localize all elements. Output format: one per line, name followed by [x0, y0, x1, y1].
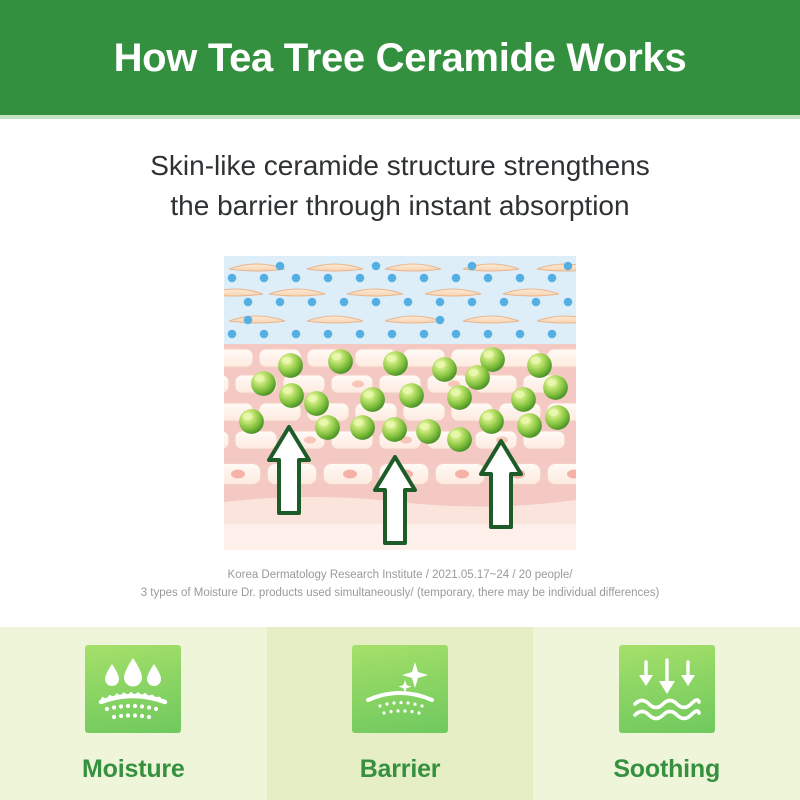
caption-line-2: 3 types of Moisture Dr. products used si…	[0, 584, 800, 602]
water-droplets-on-skin-icon	[85, 645, 181, 733]
subtitle: Skin-like ceramide structure strengthens…	[0, 146, 800, 226]
sparkle-over-skin-barrier-icon	[352, 645, 448, 733]
skin-cross-section-diagram	[224, 256, 576, 550]
benefit-label-barrier: Barrier	[360, 755, 441, 784]
benefit-card-barrier: Barrier	[267, 627, 534, 800]
benefit-label-moisture: Moisture	[82, 755, 185, 784]
header-band: How Tea Tree Ceramide Works	[0, 0, 800, 115]
benefit-card-soothing: Soothing	[533, 627, 800, 800]
benefit-label-soothing: Soothing	[613, 755, 720, 784]
benefit-card-moisture: Moisture	[0, 627, 267, 800]
header-divider	[0, 115, 800, 119]
down-arrows-over-waves-icon	[619, 645, 715, 733]
page-title: How Tea Tree Ceramide Works	[114, 38, 687, 78]
subtitle-line-2: the barrier through instant absorption	[0, 186, 800, 226]
caption-line-1: Korea Dermatology Research Institute / 2…	[0, 566, 800, 584]
infographic-page: How Tea Tree Ceramide Works Skin-like ce…	[0, 0, 800, 800]
benefits-panel: Moisture	[0, 627, 800, 800]
study-caption: Korea Dermatology Research Institute / 2…	[0, 566, 800, 603]
subtitle-line-1: Skin-like ceramide structure strengthens	[0, 146, 800, 186]
